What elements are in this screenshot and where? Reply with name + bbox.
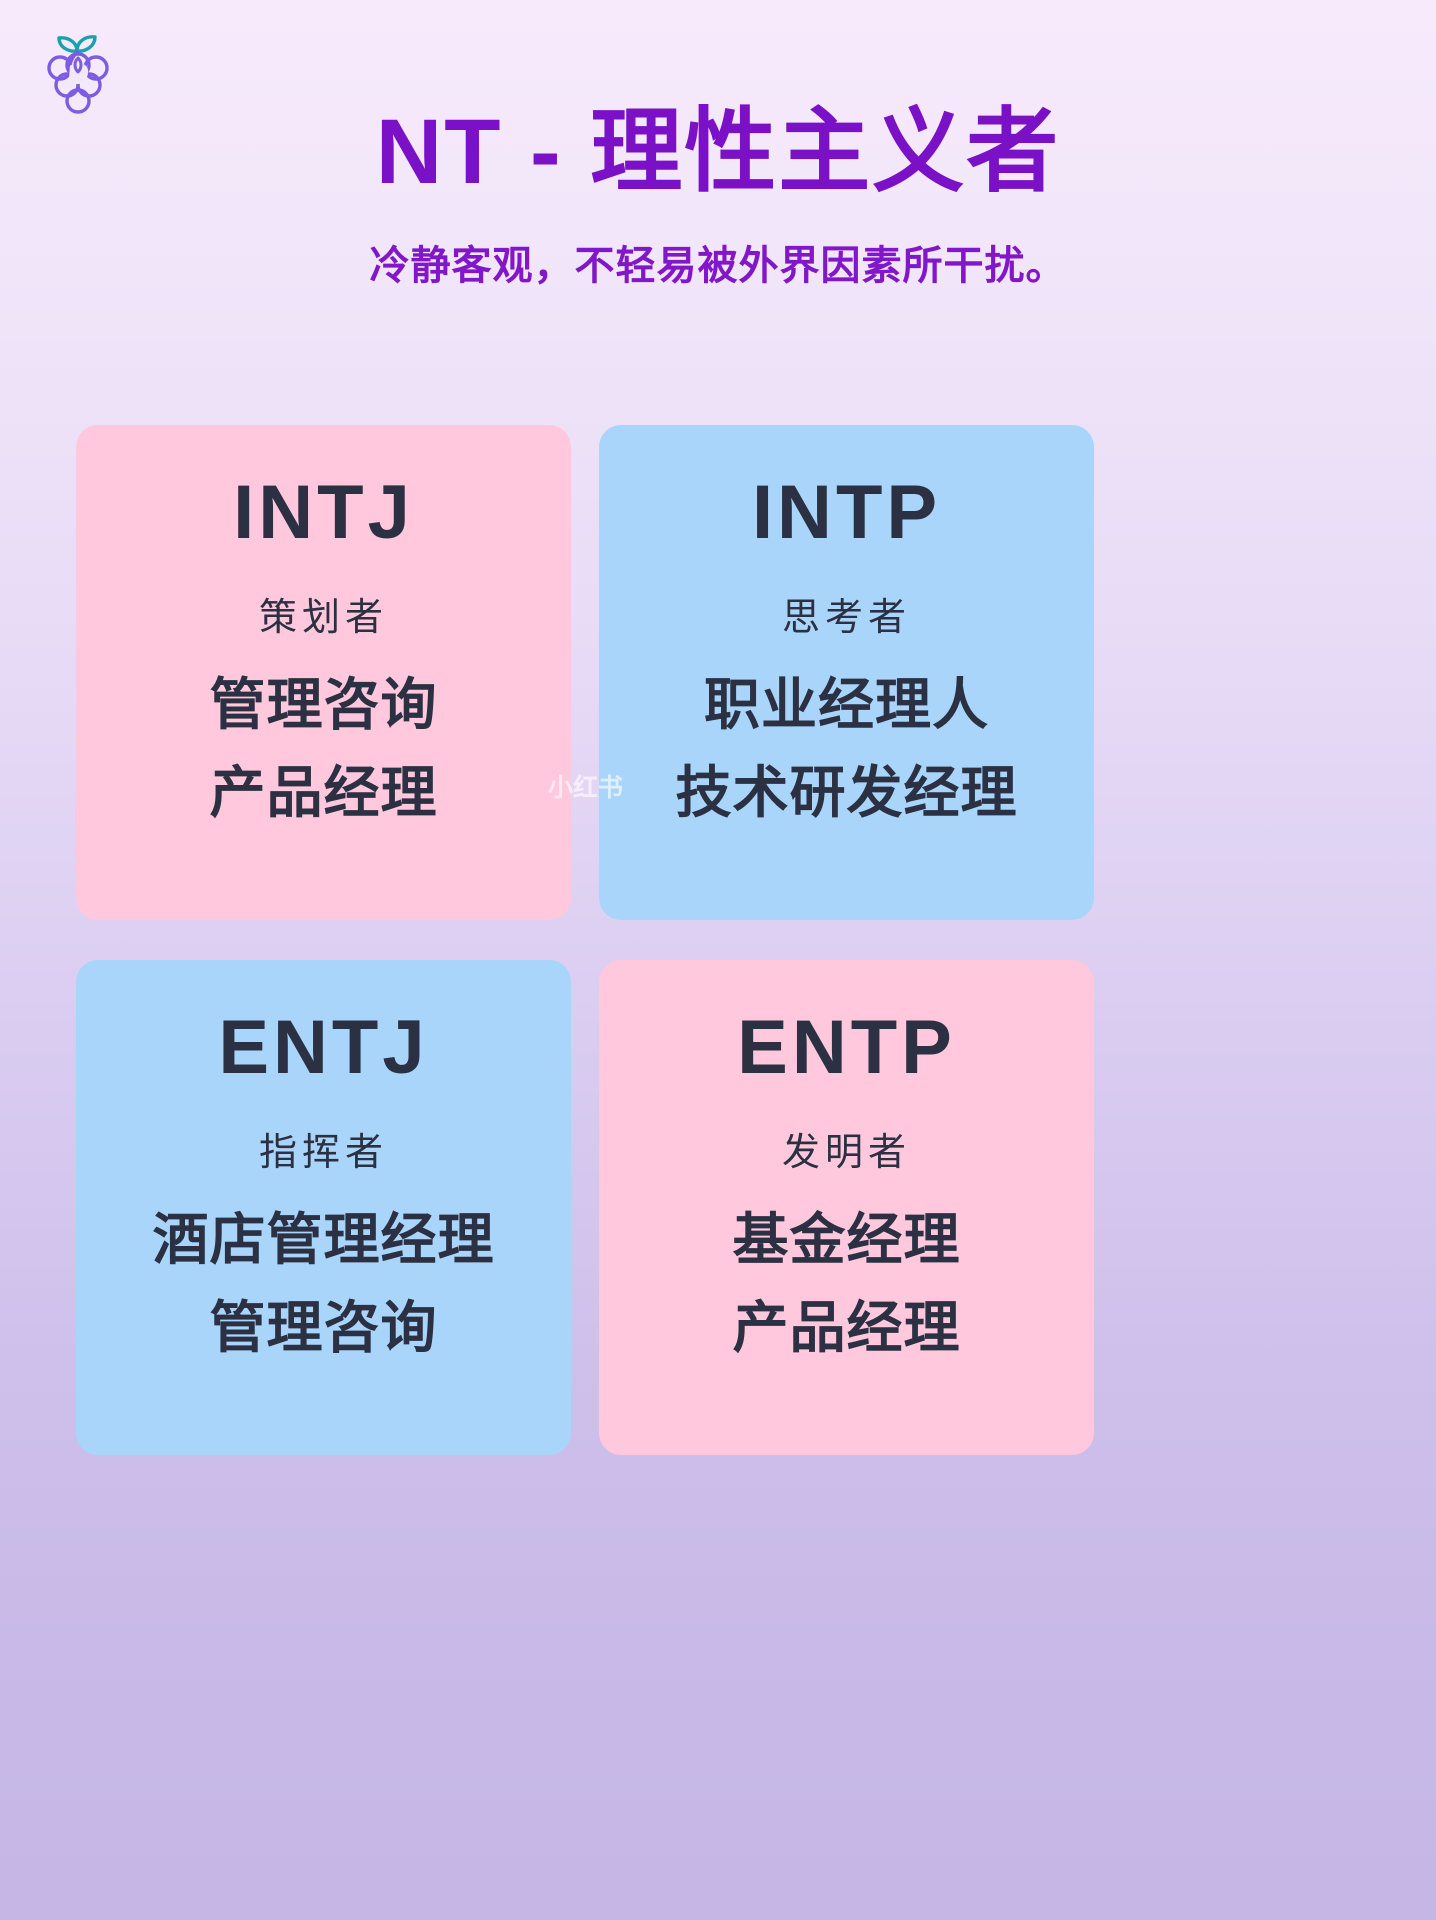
card-job: 产品经理 xyxy=(76,734,571,823)
personality-card-intp[interactable]: INTP 思考者 职业经理人 技术研发经理 xyxy=(599,425,1094,920)
card-job: 产品经理 xyxy=(599,1269,1094,1358)
card-job: 管理咨询 xyxy=(76,1269,571,1358)
personality-card-entp[interactable]: ENTP 发明者 基金经理 产品经理 xyxy=(599,960,1094,1455)
card-role-intp: 思考者 xyxy=(782,560,911,642)
card-jobs-entp: 基金经理 产品经理 xyxy=(599,1177,1094,1359)
card-job: 管理咨询 xyxy=(76,670,571,735)
page-subtitle: 冷静客观，不轻易被外界因素所干扰。 xyxy=(0,201,1436,291)
personality-card-entj[interactable]: ENTJ 指挥者 酒店管理经理 管理咨询 xyxy=(76,960,571,1455)
card-code-entj: ENTJ xyxy=(218,990,428,1095)
card-role-entp: 发明者 xyxy=(782,1095,911,1177)
card-job: 职业经理人 xyxy=(599,670,1094,735)
card-code-intp: INTP xyxy=(752,455,941,560)
card-role-entj: 指挥者 xyxy=(259,1095,388,1177)
card-role-intj: 策划者 xyxy=(259,560,388,642)
personality-card-grid: INTJ 策划者 管理咨询 产品经理 INTP 思考者 职业经理人 技术研发经理… xyxy=(76,425,1360,1455)
card-job: 酒店管理经理 xyxy=(76,1205,571,1270)
personality-card-intj[interactable]: INTJ 策划者 管理咨询 产品经理 xyxy=(76,425,571,920)
page-title: NT - 理性主义者 xyxy=(0,0,1436,201)
card-job: 基金经理 xyxy=(599,1205,1094,1270)
card-jobs-intp: 职业经理人 技术研发经理 xyxy=(599,642,1094,824)
card-job: 技术研发经理 xyxy=(599,734,1094,823)
card-jobs-intj: 管理咨询 产品经理 xyxy=(76,642,571,824)
card-code-entp: ENTP xyxy=(737,990,956,1095)
card-code-intj: INTJ xyxy=(233,455,414,560)
page-header: NT - 理性主义者 冷静客观，不轻易被外界因素所干扰。 xyxy=(0,0,1436,291)
card-jobs-entj: 酒店管理经理 管理咨询 xyxy=(76,1177,571,1359)
